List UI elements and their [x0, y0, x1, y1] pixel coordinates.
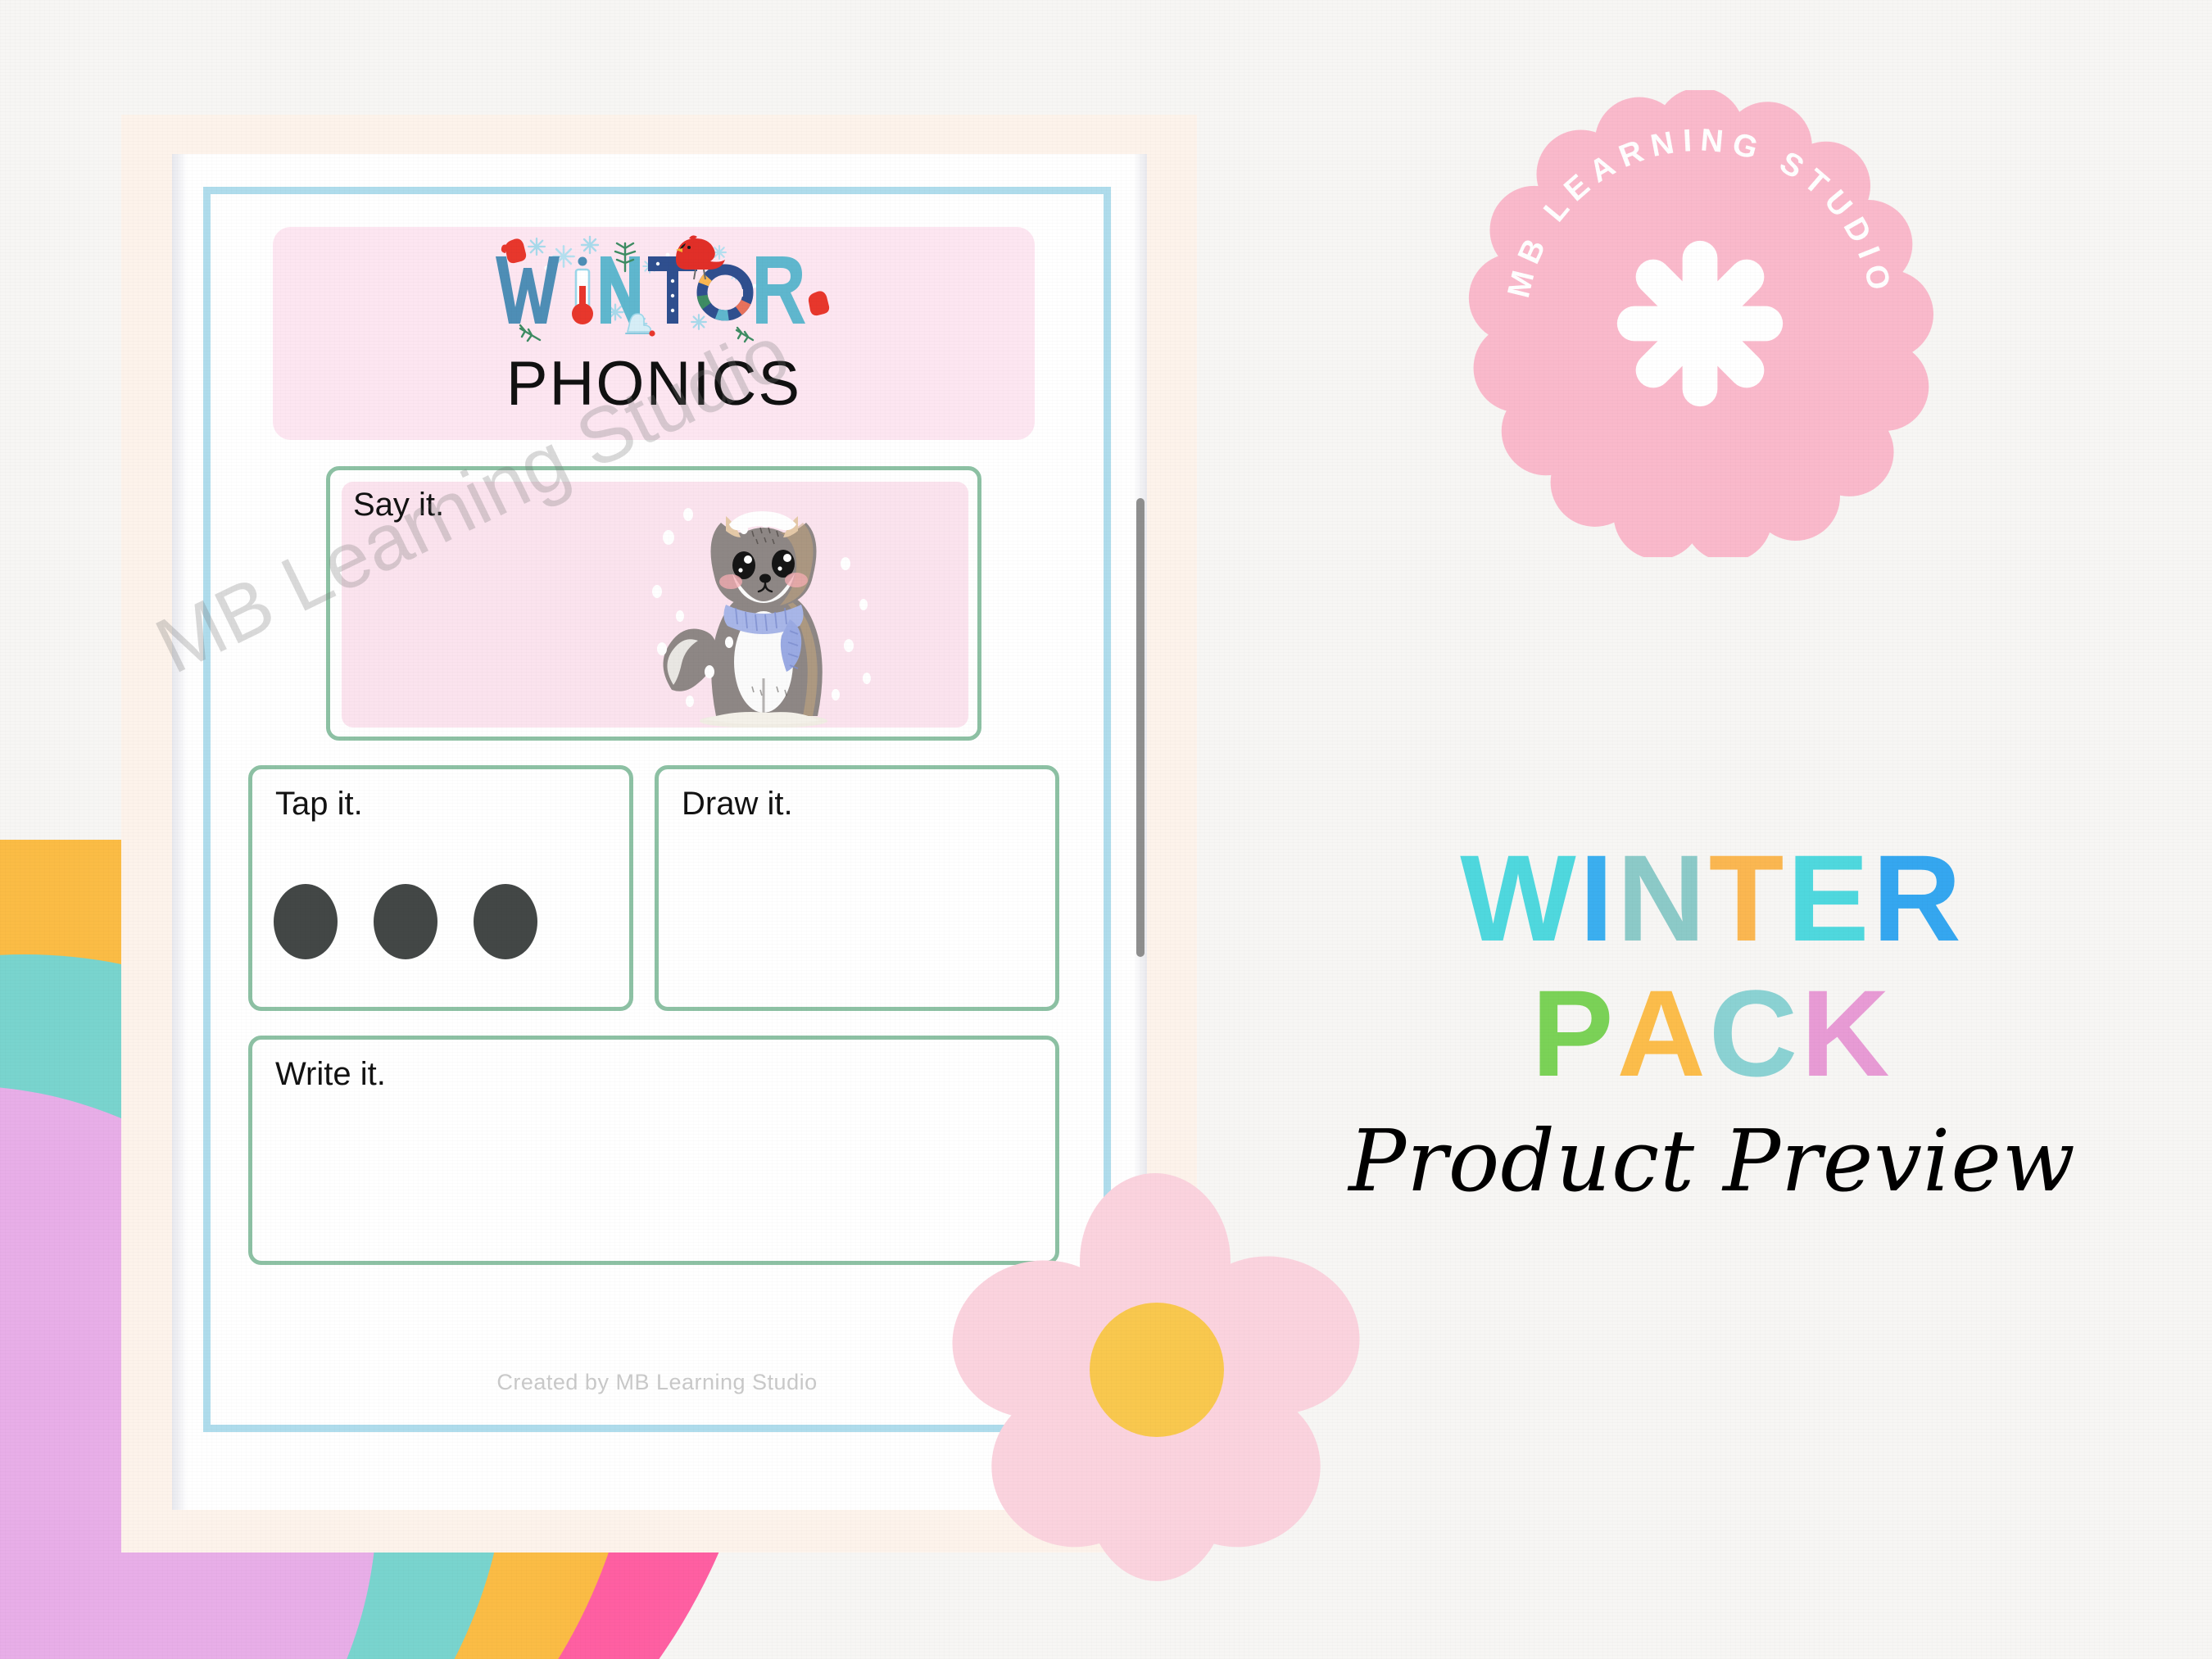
promo-letter: P: [1531, 971, 1616, 1096]
promo-pack-word: PACK: [1344, 971, 2081, 1096]
tap-dot[interactable]: [374, 884, 437, 959]
draw-it-label: Draw it.: [682, 786, 793, 823]
tap-it-label: Tap it.: [275, 786, 363, 823]
say-it-label: Say it.: [353, 487, 444, 524]
promo-letter: K: [1801, 971, 1892, 1096]
winter-word-art-icon: [461, 232, 846, 347]
write-it-label: Write it.: [275, 1056, 386, 1093]
promo-letter: C: [1709, 971, 1801, 1096]
tap-dots-group: [274, 884, 537, 959]
poster-canvas: PHONICS: [0, 0, 2212, 1659]
flower-center: [1090, 1303, 1224, 1437]
promo-letter: N: [1616, 836, 1708, 961]
scrollbar-thumb[interactable]: [1136, 498, 1145, 957]
tap-it-box[interactable]: Tap it.: [248, 765, 633, 1011]
worksheet-subtitle: PHONICS: [273, 348, 1035, 419]
activity-row: Tap it. Draw it.: [248, 765, 1059, 1011]
page-binding-shadow: [172, 154, 187, 1510]
promo-letter: I: [1580, 836, 1617, 961]
brand-badge: MB LEARNING STUDIO: [1466, 90, 1933, 557]
promo-letter: T: [1709, 836, 1788, 961]
tap-dot[interactable]: [274, 884, 338, 959]
promo-letter: R: [1872, 836, 1964, 961]
promo-winter-word: WINTER: [1344, 836, 2081, 961]
promo-text-block: WINTER PACK Product Preview: [1344, 836, 2081, 1211]
worksheet-title-box: PHONICS: [273, 227, 1035, 440]
wolf-illustration-icon: [641, 485, 878, 728]
write-it-box[interactable]: Write it.: [248, 1036, 1059, 1265]
say-it-box[interactable]: Say it.: [326, 466, 981, 741]
promo-letter: W: [1460, 836, 1580, 961]
draw-it-box[interactable]: Draw it.: [655, 765, 1059, 1011]
snowflake-asterisk-icon: [1634, 258, 1766, 389]
tap-dot[interactable]: [474, 884, 537, 959]
promo-tagline: Product Preview: [1344, 1111, 2081, 1211]
promo-letter: E: [1787, 836, 1872, 961]
promo-letter: A: [1617, 971, 1709, 1096]
flower-decoration-icon: [950, 1163, 1360, 1589]
page-content: PHONICS: [248, 227, 1059, 1398]
